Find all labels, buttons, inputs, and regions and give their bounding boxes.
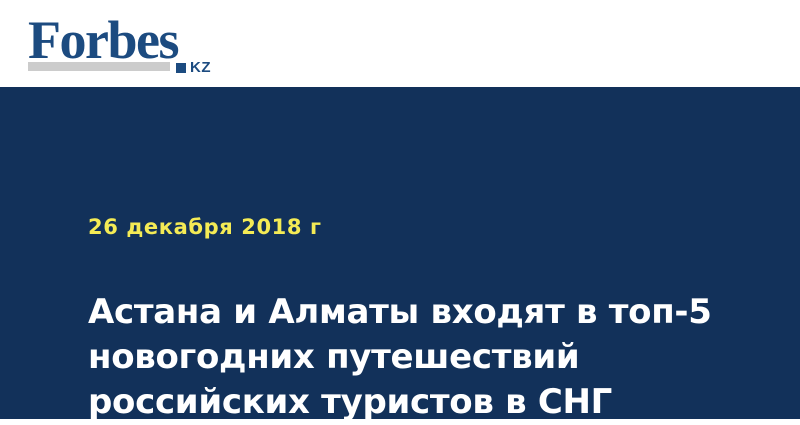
logo-wordmark-text: Forbes [28,13,178,67]
headline-line-2: новогодних путешествий [88,335,728,380]
article-headline: Астана и Алматы входят в топ-5 новогодни… [88,290,728,425]
hero-banner: 26 декабря 2018 г Астана и Алматы входят… [0,87,800,419]
article-date: 26 декабря 2018 г [88,215,322,240]
logo-underbar [28,62,170,71]
square-icon [176,63,186,73]
headline-line-1: Астана и Алматы входят в топ-5 [88,290,728,335]
headline-line-3: российских туристов в СНГ [88,380,728,425]
article-cover-page: Forbes KZ 26 декабря 2018 г Астана и Алм… [0,0,800,419]
forbes-kz-logo[interactable]: Forbes KZ [28,13,238,75]
logo-kz-text: KZ [190,60,211,75]
site-header: Forbes KZ [0,0,800,87]
logo-kz-group: KZ [176,60,211,75]
